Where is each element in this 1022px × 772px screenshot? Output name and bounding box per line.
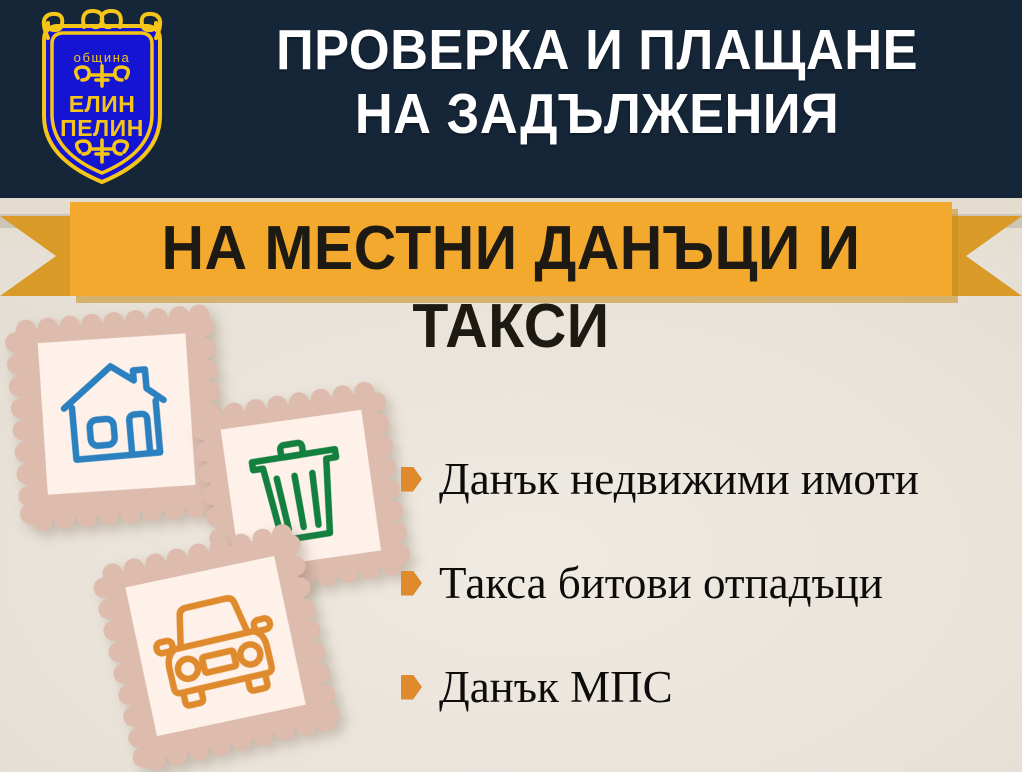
list-item[interactable]: Данък МПС bbox=[401, 635, 1011, 739]
bullet-arrow-icon bbox=[401, 675, 422, 700]
poster-root: Данък недвижими имоти Такса битови отпад… bbox=[0, 0, 1022, 772]
crest-line-main-bottom: ПЕЛИН bbox=[60, 115, 144, 141]
list-item[interactable]: Данък недвижими имоти bbox=[401, 427, 1011, 531]
tax-type-list: Данък недвижими имоти Такса битови отпад… bbox=[401, 427, 1011, 739]
list-item-label: Данък МПС bbox=[439, 665, 673, 710]
ribbon-band: НА МЕСТНИ ДАНЪЦИ И ТАКСИ bbox=[70, 202, 952, 296]
ribbon-banner: НА МЕСТНИ ДАНЪЦИ И ТАКСИ bbox=[0, 198, 1022, 304]
bullet-arrow-icon bbox=[401, 467, 422, 492]
ribbon-label: НА МЕСТНИ ДАНЪЦИ И ТАКСИ bbox=[92, 210, 930, 366]
list-item[interactable]: Такса битови отпадъци bbox=[401, 531, 1011, 635]
list-item-label: Данък недвижими имоти bbox=[439, 457, 919, 502]
bullet-arrow-icon bbox=[401, 571, 422, 596]
list-item-label: Такса битови отпадъци bbox=[439, 561, 883, 606]
coat-of-arms-elin-pelin: община ЕЛИН ПЕЛИН bbox=[22, 6, 182, 192]
page-title: ПРОВЕРКА И ПЛАЩАНЕ НА ЗАДЪЛЖЕНИЯ bbox=[221, 19, 974, 147]
coat-of-arms-svg: община ЕЛИН ПЕЛИН bbox=[22, 6, 182, 192]
stamp-paper bbox=[125, 556, 305, 736]
crest-line-main-top: ЕЛИН bbox=[69, 91, 136, 117]
crest-line-small: община bbox=[74, 50, 131, 65]
